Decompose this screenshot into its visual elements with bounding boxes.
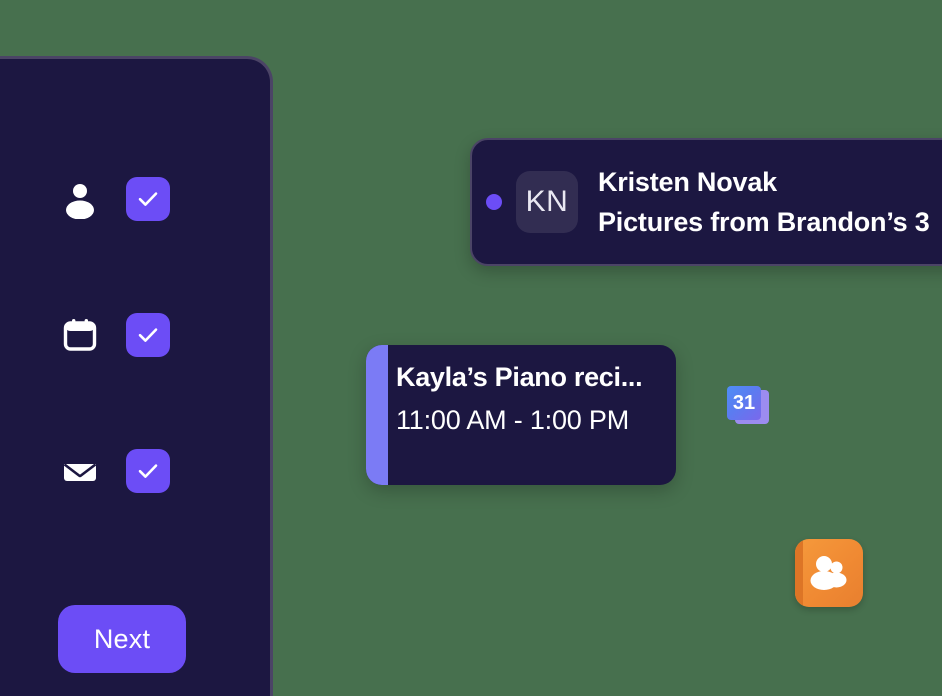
envelope-icon bbox=[56, 447, 104, 495]
permissions-sidebar: Next bbox=[0, 56, 273, 696]
calendar-event-card[interactable]: Kayla’s Piano reci... 11:00 AM - 1:00 PM bbox=[366, 345, 676, 485]
screen-canvas: Next KN Kristen Novak Pictures from Bran… bbox=[0, 0, 942, 696]
permission-row-mail[interactable] bbox=[56, 447, 170, 495]
event-body: Kayla’s Piano reci... 11:00 AM - 1:00 PM bbox=[396, 355, 668, 441]
event-accent-bar bbox=[366, 345, 388, 485]
calendar-icon bbox=[56, 311, 104, 359]
checkbox-mail-checked[interactable] bbox=[126, 449, 170, 493]
checkbox-contacts-checked[interactable] bbox=[126, 177, 170, 221]
contacts-app-icon[interactable] bbox=[795, 539, 863, 607]
permission-row-contacts[interactable] bbox=[56, 175, 170, 223]
calendar-app-icon-day: 31 bbox=[727, 386, 761, 420]
checkbox-calendar-checked[interactable] bbox=[126, 313, 170, 357]
event-time: 11:00 AM - 1:00 PM bbox=[396, 399, 668, 441]
avatar: KN bbox=[516, 171, 578, 233]
notification-card[interactable]: KN Kristen Novak Pictures from Brandon’s… bbox=[470, 138, 942, 266]
unread-dot-icon bbox=[486, 194, 502, 210]
next-button[interactable]: Next bbox=[58, 605, 186, 673]
notification-sender: Kristen Novak bbox=[598, 162, 942, 202]
event-title: Kayla’s Piano reci... bbox=[396, 355, 668, 399]
contacts-people-icon bbox=[805, 549, 853, 597]
notification-text: Kristen Novak Pictures from Brandon’s 3 bbox=[598, 162, 942, 242]
contacts-app-icon-spine bbox=[795, 539, 803, 607]
calendar-app-icon[interactable]: 31 bbox=[727, 386, 769, 426]
notification-subject: Pictures from Brandon’s 3 bbox=[598, 202, 942, 242]
person-icon bbox=[56, 175, 104, 223]
permission-row-calendar[interactable] bbox=[56, 311, 170, 359]
